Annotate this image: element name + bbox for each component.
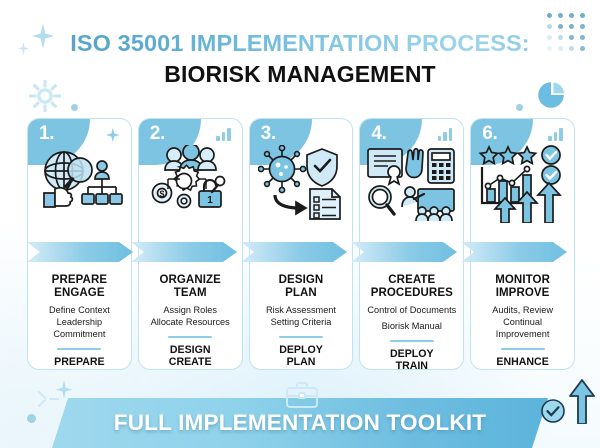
step-title: MONITORIMPROVE: [476, 274, 569, 301]
sparkle-icon: [106, 128, 120, 142]
step-number: 6.: [482, 123, 497, 145]
card-badge: [106, 128, 120, 142]
divider: [390, 340, 434, 342]
step-title: PREPAREENGAGE: [33, 274, 126, 301]
certificate-glove-calculator-training-icon: [360, 145, 463, 221]
page-title-secondary: BIORISK MANAGEMENT: [0, 61, 600, 88]
page-header: ISO 35001 IMPLEMENTATION PROCESS: BIORIS…: [0, 30, 600, 88]
divider: [501, 348, 545, 350]
step-number: 4.: [371, 123, 386, 145]
virus-shield-checklist-icon: [250, 145, 353, 221]
footer-icons: [540, 378, 596, 424]
card-badge: [548, 128, 563, 141]
bar-chart-icon: [438, 128, 453, 141]
card-top: 1.: [28, 119, 131, 241]
briefcase-icon: [285, 381, 319, 409]
up-arrow-icon: [568, 378, 596, 424]
step-title: CREATEPROCEDURES: [365, 274, 458, 301]
divider: [168, 336, 212, 338]
card-badge: [216, 128, 231, 141]
bar-chart-icon: [216, 128, 231, 141]
step-bottom-label: DESIGNCREATE: [144, 344, 237, 369]
card-top: 2.: [139, 119, 242, 241]
step-number: 3.: [261, 123, 276, 145]
card-body: DESIGNPLAN Risk Assessment Setting Crite…: [250, 267, 353, 370]
step-title: DESIGNPLAN: [255, 274, 348, 301]
process-arrows: [27, 236, 579, 268]
card-body: CREATEPROCEDURES Control of Documents Bi…: [360, 267, 463, 370]
step-title: ORGANIZETEAM: [144, 274, 237, 301]
step-number: 1.: [39, 123, 54, 145]
stars-chart-uparrows-checks-icon: [471, 145, 574, 223]
card-body: PREPAREENGAGE Define Context Leadership …: [28, 267, 131, 370]
step-details: Control of Documents Biorisk Manual: [365, 305, 458, 333]
bar-chart-icon: [548, 128, 563, 141]
card-body: MONITORIMPROVE Audits, Review Continual …: [471, 267, 574, 370]
step-number: 2.: [150, 123, 165, 145]
svg-text:$: $: [160, 189, 165, 199]
step-bottom-label: DEPLOYPLAN: [255, 344, 348, 369]
step-details: Define Context Leadership Commitment: [33, 305, 126, 341]
card-badge: [438, 128, 453, 141]
card-top: 3.: [250, 119, 353, 241]
card-top: 6.: [471, 119, 574, 241]
step-details: Risk Assessment Setting Criteria: [255, 305, 348, 329]
divider: [57, 348, 101, 350]
step-bottom-label: DEPLOYTRAIN: [365, 348, 458, 370]
divider: [279, 336, 323, 338]
card-body: ORGANIZETEAM Assign Roles Allocate Resou…: [139, 267, 242, 370]
step-bottom-label: ENHANCESUSTAIN: [476, 356, 569, 370]
dot-icon: [27, 414, 36, 423]
team-gears-lock-icon: $ 1: [139, 145, 242, 219]
check-circle-icon: [540, 398, 566, 424]
globe-magnifier-orgchart-icon: [28, 145, 131, 219]
step-details: Assign Roles Allocate Resources: [144, 305, 237, 329]
dot-icon: [71, 104, 78, 111]
step-details: Audits, Review Continual Improvement: [476, 305, 569, 341]
card-top: 4.: [360, 119, 463, 241]
step-bottom-label: PREPAREENGAGE: [33, 356, 126, 370]
svg-text:1: 1: [207, 195, 213, 206]
dot-icon: [516, 104, 523, 111]
page-title-primary: ISO 35001 IMPLEMENTATION PROCESS:: [0, 30, 600, 57]
